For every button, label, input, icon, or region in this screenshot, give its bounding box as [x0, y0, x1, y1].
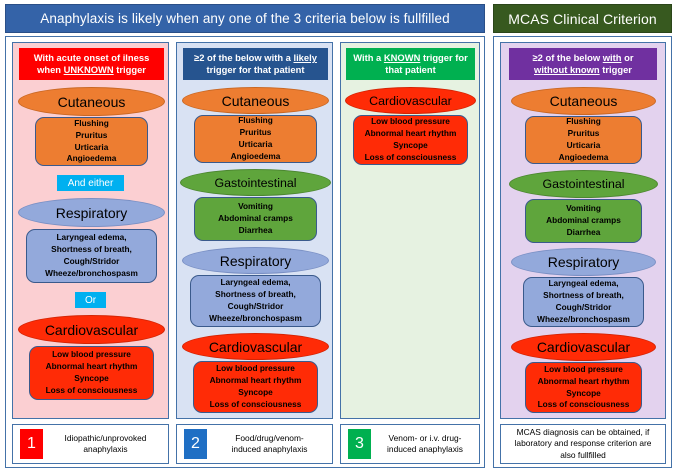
criterion-3-footer-line2: induced anaphylaxis [387, 444, 463, 454]
mcas-footer-line3: also fullfilled [560, 450, 606, 460]
symptom-urticaria: Urticaria [75, 142, 109, 154]
cardiovascular-pill-col4: Cardiovascular [511, 333, 656, 361]
criterion-2-footer: 2 Food/drug/venom- induced anaphylaxis [176, 424, 333, 464]
mcas-footer-line1: MCAS diagnosis can be obtained, if [517, 427, 650, 437]
symptom-abnormal-heart-rhythm: Abnormal heart rhythm [538, 376, 630, 388]
gastrointestinal-label: Gastointestinal [543, 177, 625, 191]
gastrointestinal-pill-col4: Gastointestinal [509, 170, 658, 198]
mcas-title-bar: MCAS Clinical Criterion [493, 4, 672, 33]
symptom-loss-of-consciousness: Loss of consciousness [365, 152, 457, 164]
cutaneous-pill-col4: Cutaneous [511, 87, 656, 115]
cutaneous-label: Cutaneous [58, 94, 126, 110]
symptom-abdominal-cramps: Abdominal cramps [546, 215, 621, 227]
criterion-3-header: With a KNOWN trigger for that patient [346, 48, 475, 80]
criterion-3-footer-line1: Venom- or i.v. drug- [389, 433, 462, 443]
criterion-3-header-line1-pre: With a [353, 52, 384, 63]
mcas-footer-text: MCAS diagnosis can be obtained, if labor… [501, 427, 665, 460]
symptom-urticaria: Urticaria [239, 139, 273, 151]
cutaneous-label: Cutaneous [222, 93, 290, 109]
criterion-2-badge-number: 2 [191, 435, 200, 453]
symptom-abdominal-cramps: Abdominal cramps [218, 213, 293, 225]
mcas-header: ≥2 of the below with or without known tr… [509, 48, 657, 80]
criterion-1-header: With acute onset of ilness when UNKNOWN … [19, 48, 164, 80]
respiratory-symptoms-col4: Laryngeal edema, Shortness of breath, Co… [523, 277, 644, 327]
criterion-1-header-line1: With acute onset of ilness [34, 52, 150, 63]
cardiovascular-pill-col2: Cardiovascular [182, 333, 329, 360]
symptom-flushing: Flushing [74, 118, 109, 130]
criterion-2-column: ≥2 of the below with a likely trigger fo… [176, 42, 333, 419]
symptom-pruritus: Pruritus [568, 128, 600, 140]
mcas-header-line1-post: or [622, 52, 634, 63]
criterion-3-header-line1-post: trigger for [420, 52, 467, 63]
symptom-angioedema: Angioedema [231, 151, 281, 163]
respiratory-pill-col1: Respiratory [18, 198, 165, 227]
symptom-cough-stridor: Cough/Stridor [228, 301, 284, 313]
symptom-low-blood-pressure: Low blood pressure [371, 116, 450, 128]
symptom-abnormal-heart-rhythm: Abnormal heart rhythm [210, 375, 302, 387]
gastrointestinal-symptoms-col4: Vomiting Abdominal cramps Diarrhea [525, 199, 642, 243]
gastrointestinal-pill-col2: Gastointestinal [180, 169, 331, 196]
cutaneous-pill-col1: Cutaneous [18, 87, 165, 116]
criterion-3-header-known: KNOWN [384, 52, 420, 63]
cardiovascular-pill-col1: Cardiovascular [18, 315, 165, 344]
gastrointestinal-label: Gastointestinal [215, 176, 297, 190]
respiratory-symptoms-col2: Laryngeal edema, Shortness of breath, Co… [190, 275, 321, 327]
symptom-shortness-of-breath: Shortness of breath, [215, 289, 296, 301]
criterion-3-badge: 3 [348, 429, 371, 459]
anaphylaxis-title-bar: Anaphylaxis is likely when any one of th… [5, 4, 485, 33]
cardiovascular-symptoms-col1: Low blood pressure Abnormal heart rhythm… [29, 346, 154, 400]
criterion-1-footer-text: Idiopathic/unprovoked anaphylaxis [43, 433, 168, 455]
criterion-1-header-line2-post: trigger [114, 64, 146, 75]
symptom-shortness-of-breath: Shortness of breath, [51, 244, 132, 256]
criterion-1-badge-number: 1 [27, 435, 36, 453]
criterion-2-footer-line1: Food/drug/venom- [235, 433, 303, 443]
cutaneous-label: Cutaneous [550, 93, 618, 109]
criterion-2-header-line1-pre: ≥2 of the below with a [194, 52, 293, 63]
symptom-syncope: Syncope [566, 388, 601, 400]
symptom-flushing: Flushing [238, 115, 273, 127]
symptom-loss-of-consciousness: Loss of consciousness [538, 399, 630, 411]
symptom-laryngeal-edema: Laryngeal edema, [56, 232, 126, 244]
mcas-header-line1-pre: ≥2 of the below [533, 52, 603, 63]
mcas-title-text: MCAS Clinical Criterion [508, 11, 657, 27]
symptom-abnormal-heart-rhythm: Abnormal heart rhythm [46, 361, 138, 373]
cardiovascular-symptoms-col4: Low blood pressure Abnormal heart rhythm… [525, 362, 642, 413]
respiratory-pill-col4: Respiratory [511, 248, 656, 276]
mcas-header-with: with [603, 52, 622, 63]
criterion-3-header-line2: that patient [385, 64, 436, 75]
symptom-pruritus: Pruritus [76, 130, 108, 142]
symptom-flushing: Flushing [566, 116, 601, 128]
symptom-laryngeal-edema: Laryngeal edema, [220, 277, 290, 289]
respiratory-label: Respiratory [56, 205, 128, 221]
symptom-syncope: Syncope [74, 373, 109, 385]
symptom-low-blood-pressure: Low blood pressure [52, 349, 131, 361]
criterion-3-column: With a KNOWN trigger for that patient Ca… [340, 42, 480, 419]
symptom-vomiting: Vomiting [238, 201, 273, 213]
symptom-wheeze-bronchospasm: Wheeze/bronchospasm [537, 314, 630, 326]
mcas-header-without-known: without known [534, 64, 600, 75]
criterion-2-badge: 2 [184, 429, 207, 459]
symptom-laryngeal-edema: Laryngeal edema, [548, 278, 618, 290]
symptom-diarrhea: Diarrhea [567, 227, 601, 239]
cutaneous-symptoms-col4: Flushing Pruritus Urticaria Angioedema [525, 116, 642, 164]
cardiovascular-label: Cardiovascular [537, 339, 630, 355]
connector-and-either: And either [57, 175, 124, 191]
symptom-syncope: Syncope [393, 140, 428, 152]
symptom-low-blood-pressure: Low blood pressure [544, 364, 623, 376]
criterion-3-badge-number: 3 [355, 435, 364, 453]
symptom-urticaria: Urticaria [567, 140, 601, 152]
anaphylaxis-mcas-criteria-diagram: Anaphylaxis is likely when any one of th… [0, 0, 676, 472]
criterion-1-footer-line2: anaphylaxis [83, 444, 127, 454]
symptom-wheeze-bronchospasm: Wheeze/bronchospasm [45, 268, 138, 280]
criterion-1-footer: 1 Idiopathic/unprovoked anaphylaxis [12, 424, 169, 464]
cardiovascular-label: Cardiovascular [209, 339, 302, 355]
cardiovascular-symptoms-col2: Low blood pressure Abnormal heart rhythm… [193, 361, 318, 413]
symptom-pruritus: Pruritus [240, 127, 272, 139]
mcas-criterion-column: ≥2 of the below with or without known tr… [500, 42, 666, 419]
cardiovascular-label: Cardiovascular [369, 94, 452, 108]
connector-or: Or [75, 292, 106, 308]
symptom-loss-of-consciousness: Loss of consciousness [210, 399, 302, 411]
criterion-1-badge: 1 [20, 429, 43, 459]
cardiovascular-symptoms-col3: Low blood pressure Abnormal heart rhythm… [353, 115, 468, 165]
criterion-2-footer-line2: induced anaphylaxis [232, 444, 308, 454]
symptom-vomiting: Vomiting [566, 203, 601, 215]
mcas-footer-line2: laboratory and response criterion are [515, 438, 652, 448]
criterion-3-footer-text: Venom- or i.v. drug- induced anaphylaxis [371, 433, 479, 455]
criterion-2-header-line2: trigger for that patient [207, 64, 305, 75]
respiratory-pill-col2: Respiratory [182, 247, 329, 274]
symptom-angioedema: Angioedema [67, 153, 117, 165]
connector-and-either-label: And either [68, 178, 114, 189]
cardiovascular-pill-col3: Cardiovascular [345, 87, 476, 114]
cutaneous-symptoms-col2: Flushing Pruritus Urticaria Angioedema [194, 115, 317, 163]
symptom-low-blood-pressure: Low blood pressure [216, 363, 295, 375]
symptom-abnormal-heart-rhythm: Abnormal heart rhythm [365, 128, 457, 140]
symptom-angioedema: Angioedema [559, 152, 609, 164]
criterion-1-header-line2-pre: when [37, 64, 64, 75]
criterion-2-footer-text: Food/drug/venom- induced anaphylaxis [207, 433, 332, 455]
gastrointestinal-symptoms-col2: Vomiting Abdominal cramps Diarrhea [194, 197, 317, 241]
criterion-2-header-likely: likely [293, 52, 316, 63]
symptom-loss-of-consciousness: Loss of consciousness [46, 385, 138, 397]
symptom-cough-stridor: Cough/Stridor [556, 302, 612, 314]
criterion-3-footer: 3 Venom- or i.v. drug- induced anaphylax… [340, 424, 480, 464]
criterion-1-column: With acute onset of ilness when UNKNOWN … [12, 42, 169, 419]
criterion-1-footer-line1: Idiopathic/unprovoked [65, 433, 147, 443]
connector-or-label: Or [85, 295, 96, 306]
respiratory-symptoms-col1: Laryngeal edema, Shortness of breath, Co… [26, 229, 157, 283]
symptom-diarrhea: Diarrhea [239, 225, 273, 237]
respiratory-label: Respiratory [220, 253, 292, 269]
mcas-header-line2-post: trigger [600, 64, 632, 75]
cutaneous-symptoms-col1: Flushing Pruritus Urticaria Angioedema [35, 117, 148, 166]
cardiovascular-label: Cardiovascular [45, 322, 138, 338]
criterion-1-header-unknown: UNKNOWN [64, 64, 114, 75]
symptom-wheeze-bronchospasm: Wheeze/bronchospasm [209, 313, 302, 325]
cutaneous-pill-col2: Cutaneous [182, 87, 329, 114]
criterion-2-header: ≥2 of the below with a likely trigger fo… [183, 48, 328, 80]
symptom-syncope: Syncope [238, 387, 273, 399]
mcas-footer: MCAS diagnosis can be obtained, if labor… [500, 424, 666, 464]
respiratory-label: Respiratory [548, 254, 620, 270]
symptom-shortness-of-breath: Shortness of breath, [543, 290, 624, 302]
symptom-cough-stridor: Cough/Stridor [64, 256, 120, 268]
anaphylaxis-title-text: Anaphylaxis is likely when any one of th… [40, 11, 449, 26]
